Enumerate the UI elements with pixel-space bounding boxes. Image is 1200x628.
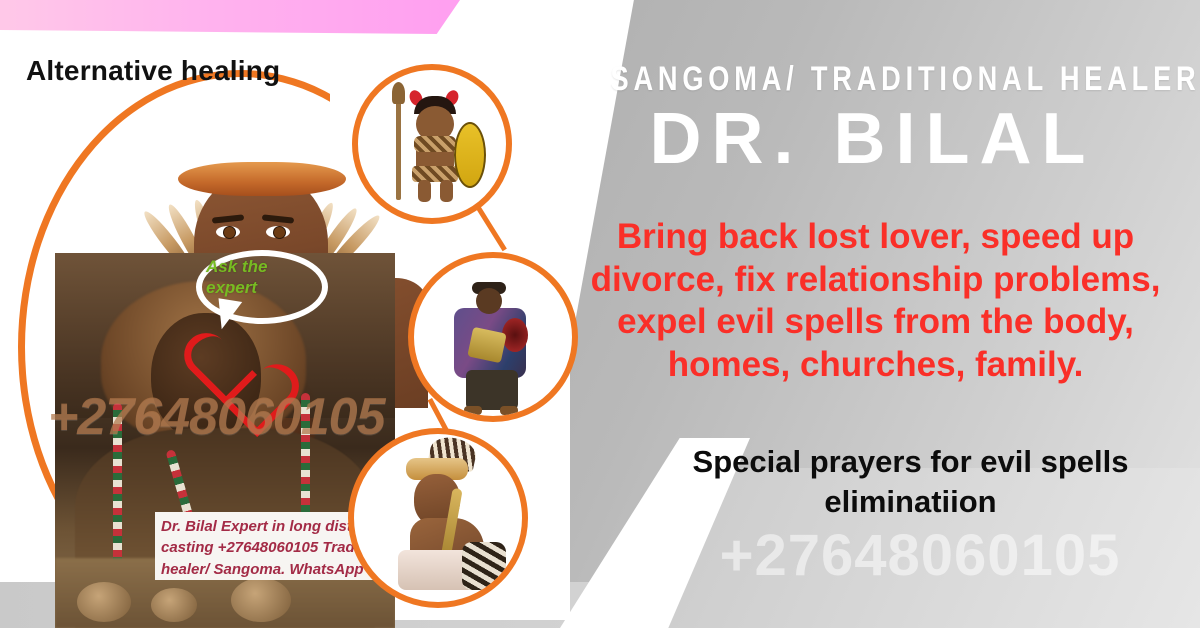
kicker-headline: SANGOMA/ TRADITIONAL HEALER [611, 60, 1135, 99]
poster-canvas: Alternative healing [0, 0, 1200, 628]
right-text-column: SANGOMA/ TRADITIONAL HEALER DR. BILAL Br… [545, 0, 1200, 628]
speech-bubble-tail [214, 298, 242, 331]
speech-bubble-text: Ask the expert [206, 256, 316, 299]
photo-watermark-phone: +27648060105 [48, 387, 448, 447]
special-prayers-text: Special prayers for evil spells eliminat… [623, 442, 1198, 521]
brand-name: DR. BILAL [545, 103, 1200, 175]
ghost-phone-number: +27648060105 [635, 522, 1200, 589]
page-title: Alternative healing [26, 55, 280, 87]
bubble-zulu-warrior[interactable] [352, 64, 512, 224]
left-collage: Alternative healing [0, 0, 560, 628]
services-text: Bring back lost lover, speed up divorce,… [563, 216, 1188, 387]
bubble-crouching-sangoma[interactable] [348, 428, 528, 608]
